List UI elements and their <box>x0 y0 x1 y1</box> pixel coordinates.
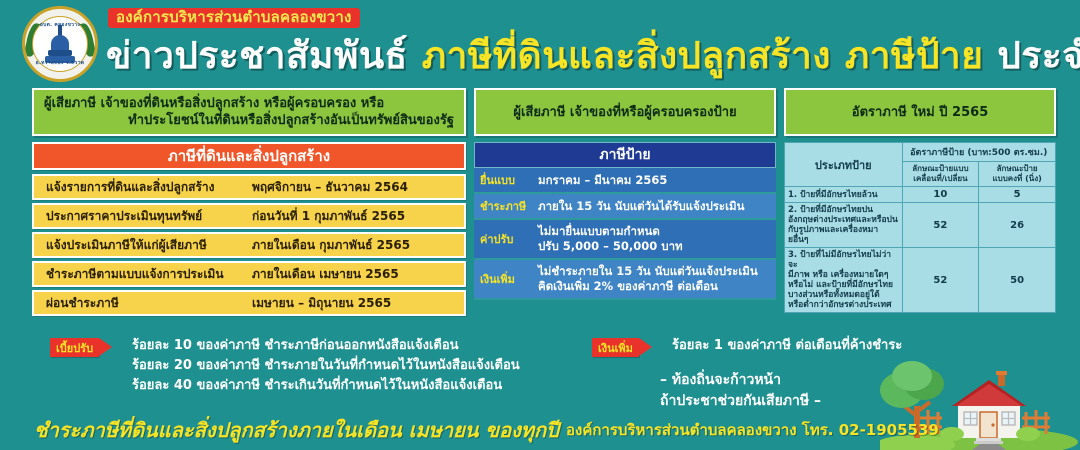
seal-inner: อบต. คลองขวาง อ.ทรายทอง จ.ตราด <box>32 16 88 72</box>
rate-category-2: 3. ป้ายที่ไม่มีอักษรไทยไม่ว่าจะมีภาพ หรื… <box>785 248 903 313</box>
rate-category-0: 1. ป้ายที่มีอักษรไทยล้วน <box>785 187 903 203</box>
rate-header-moving: ลักษณะป้ายแบบเคลื่อนที่/เปลี่ยน <box>902 162 979 187</box>
sign-tax-label-2: ค่าปรับ <box>474 230 536 248</box>
headline-news: ข่าวประชาสัมพันธ์ <box>106 26 408 85</box>
seal-icon: อบต. คลองขวาง อ.ทรายทอง จ.ตราด <box>22 6 98 82</box>
table-row: 3. ป้ายที่ไม่มีอักษรไทยไม่ว่าจะมีภาพ หรื… <box>785 248 1056 313</box>
footer-right-text: องค์การบริหารส่วนตำบลคลองขวาง โทร. 02-19… <box>566 418 939 442</box>
rate-fixed-2: 50 <box>979 248 1056 313</box>
table-row: ยื่นแบบ มกราคม – มีนาคม 2565 <box>474 168 776 194</box>
rate-moving-0: 10 <box>902 187 979 203</box>
sign-tax-title: ภาษีป้าย <box>474 142 776 168</box>
table-row: 2. ป้ายที่มีอักษรไทยปนอังกฤษต่างประเทศแล… <box>785 203 1056 248</box>
table-row: ค่าปรับ ไม่มายื่นแบบตามกำหนดปรับ 5,000 –… <box>474 220 776 260</box>
surcharge-lines: ร้อยละ 1 ของค่าภาษี ต่อเดือนที่ค้างชำระ <box>672 336 902 356</box>
land-tax-value-4: เมษายน – มิถุนายน 2565 <box>246 294 464 313</box>
banner-taxpayer-sign: ผู้เสียภาษี เจ้าของที่หรือผู้ครอบครองป้า… <box>474 88 776 136</box>
sign-tax-value-1: ภายใน 15 วัน นับแต่วันได้รับแจ้งประเมิน <box>536 195 776 218</box>
rate-header-rate: อัตราภาษีป้าย (บาท:500 ตร.ซม.) <box>902 143 1055 162</box>
fine-line-1: ร้อยละ 20 ของค่าภาษี ชำระภายในวันที่กำหน… <box>132 356 520 376</box>
table-row: 1. ป้ายที่มีอักษรไทยล้วน 10 5 <box>785 187 1056 203</box>
table-row: แจ้งประเมินภาษีให้แก่ผู้เสียภาษี ภายในเด… <box>32 232 466 258</box>
banner-taxpayer-land: ผู้เสียภาษี เจ้าของที่ดินหรือสิ่งปลูกสร้… <box>32 88 466 136</box>
rate-table: ประเภทป้าย อัตราภาษีป้าย (บาท:500 ตร.ซม.… <box>784 142 1056 313</box>
organization-name: องค์การบริหารส่วนตำบลคลองขวาง <box>108 8 360 28</box>
rate-header-fixed: ลักษณะป้ายแบบคงที่ (นิ่ง) <box>979 162 1056 187</box>
table-row: ผ่อนชำระภาษี เมษายน – มิถุนายน 2565 <box>32 290 466 316</box>
sign-tax-table: ยื่นแบบ มกราคม – มีนาคม 2565 ชำระภาษี ภา… <box>474 168 776 300</box>
land-tax-value-3: ภายในเดือน เมษายน 2565 <box>246 265 464 284</box>
land-tax-label-1: ประกาศราคาประเมินทุนทรัพย์ <box>34 207 246 226</box>
surcharge-line-0: ร้อยละ 1 ของค่าภาษี ต่อเดือนที่ค้างชำระ <box>672 336 902 356</box>
slogan-line-2: ถ้าประชาช่วยกันเสียภาษี – <box>660 391 821 412</box>
rate-moving-2: 52 <box>902 248 979 313</box>
table-row: ชำระภาษีตามแบบแจ้งการประเมิน ภายในเดือน … <box>32 261 466 287</box>
land-tax-value-2: ภายในเดือน กุมภาพันธ์ 2565 <box>246 236 464 255</box>
headline-topic-land: ภาษีที่ดินและสิ่งปลูกสร้าง <box>422 26 831 85</box>
sign-tax-value-3: ไม่ชำระภายใน 15 วัน นับแต่วันแจ้งประเมิน… <box>536 260 776 298</box>
table-row: ประกาศราคาประเมินทุนทรัพย์ ก่อนวันที่ 1 … <box>32 203 466 229</box>
rate-category-1: 2. ป้ายที่มีอักษรไทยปนอังกฤษต่างประเทศแล… <box>785 203 903 248</box>
banner-taxpayer-land-line1: ผู้เสียภาษี เจ้าของที่ดินหรือสิ่งปลูกสร้… <box>40 95 458 112</box>
rate-fixed-1: 26 <box>979 203 1056 248</box>
land-tax-label-2: แจ้งประเมินภาษีให้แก่ผู้เสียภาษี <box>34 236 246 255</box>
table-row: ชำระภาษี ภายใน 15 วัน นับแต่วันได้รับแจ้… <box>474 194 776 220</box>
land-tax-label-0: แจ้งรายการที่ดินและสิ่งปลูกสร้าง <box>34 178 246 197</box>
slogan: – ท้องถิ่นจะก้าวหน้า ถ้าประชาช่วยกันเสีย… <box>660 370 821 412</box>
rate-moving-1: 52 <box>902 203 979 248</box>
seal-bottom-text: อ.ทรายทอง จ.ตราด <box>33 59 87 67</box>
land-tax-title: ภาษีที่ดินและสิ่งปลูกสร้าง <box>32 142 466 170</box>
fine-tag: เบี้ยปรับ <box>50 338 99 357</box>
fine-lines: ร้อยละ 10 ของค่าภาษี ชำระภาษีก่อนออกหนัง… <box>132 336 520 396</box>
table-row: แจ้งรายการที่ดินและสิ่งปลูกสร้าง พฤศจิกา… <box>32 174 466 200</box>
sign-tax-label-3: เงินเพิ่ม <box>474 270 536 288</box>
land-tax-label-3: ชำระภาษีตามแบบแจ้งการประเมิน <box>34 265 246 284</box>
land-tax-table: แจ้งรายการที่ดินและสิ่งปลูกสร้าง พฤศจิกา… <box>32 174 466 319</box>
rate-header-category: ประเภทป้าย <box>785 143 903 187</box>
rate-fixed-0: 5 <box>979 187 1056 203</box>
banner-new-rate: อัตราภาษี ใหม่ ปี 2565 <box>784 88 1056 136</box>
banner-taxpayer-land-line2: ทำประโยชน์ในที่ดินหรือสิ่งปลูกสร้างอันเป… <box>40 112 458 129</box>
table-row: เงินเพิ่ม ไม่ชำระภายใน 15 วัน นับแต่วันแ… <box>474 260 776 300</box>
header: อบต. คลองขวาง อ.ทรายทอง จ.ตราด องค์การบร… <box>0 0 1080 86</box>
fine-line-2: ร้อยละ 40 ของค่าภาษี ชำระเกินวันที่กำหนด… <box>132 376 520 396</box>
fine-line-0: ร้อยละ 10 ของค่าภาษี ชำระภาษีก่อนออกหนัง… <box>132 336 520 356</box>
land-tax-label-4: ผ่อนชำระภาษี <box>34 294 246 313</box>
poster-root: อบต. คลองขวาง อ.ทรายทอง จ.ตราด องค์การบร… <box>0 0 1080 450</box>
land-tax-value-1: ก่อนวันที่ 1 กุมภาพันธ์ 2565 <box>246 207 464 226</box>
page-title: ข่าวประชาสัมพันธ์ ภาษีที่ดินและสิ่งปลูกส… <box>106 26 1080 85</box>
headline-for-year: ประจำปี <box>997 26 1080 85</box>
rate-table-header-row: ประเภทป้าย อัตราภาษีป้าย (บาท:500 ตร.ซม.… <box>785 143 1056 162</box>
sign-tax-value-0: มกราคม – มีนาคม 2565 <box>536 169 776 192</box>
surcharge-tag: เงินเพิ่ม <box>592 338 639 357</box>
headline-topic-sign: ภาษีป้าย <box>845 26 984 85</box>
organization-logo: อบต. คลองขวาง อ.ทรายทอง จ.ตราด <box>22 6 100 82</box>
land-tax-value-0: พฤศจิกายน – ธันวาคม 2564 <box>246 178 464 197</box>
sign-tax-label-1: ชำระภาษี <box>474 197 536 215</box>
slogan-line-1: – ท้องถิ่นจะก้าวหน้า <box>660 370 821 391</box>
sign-tax-label-0: ยื่นแบบ <box>474 171 536 189</box>
sign-tax-value-2: ไม่มายื่นแบบตามกำหนดปรับ 5,000 – 50,000 … <box>536 220 776 258</box>
footer-left-text: ชำระภาษีที่ดินและสิ่งปลูกสร้างภายในเดือน… <box>34 414 559 446</box>
